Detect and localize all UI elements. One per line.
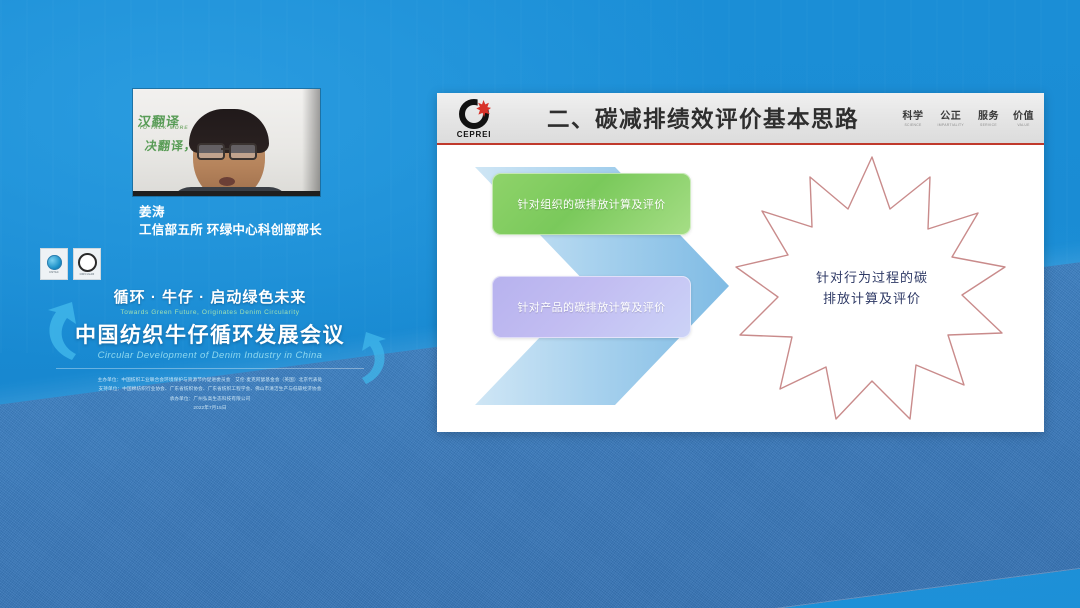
organizer-line-2: 支持单位：中国棉纺织行业协会、广东省纺织协会、广东省纺织工程学会、佛山市清洁生产… <box>30 384 390 393</box>
speaker-video-feed[interactable]: 汉翻译 TO TALK MORE 决翻译，万恳 <box>133 89 320 196</box>
slide-header: CEPREI 二、碳减排绩效评价基本思路 科学 SCIENCE 公正 IMPAR… <box>437 93 1044 145</box>
organizer-line-3: 承办单位：广州弘高生态科技有限公司 <box>30 394 390 403</box>
circular-arrow-icon <box>78 253 97 272</box>
value-science: 科学 SCIENCE <box>903 107 924 127</box>
speaker-title: 工信部五所 环绿中心科创部部长 <box>139 221 322 239</box>
org-logo-1: CNTAC <box>40 248 68 280</box>
value-impartiality: 公正 IMPARTIALITY <box>938 107 964 127</box>
organization-box[interactable]: 针对组织的碳排放计算及评价 <box>492 173 691 235</box>
speaker-name: 姜涛 <box>139 203 322 221</box>
behavior-process-burst: 针对行为过程的碳 排放计算及评价 <box>730 151 1014 426</box>
ceprei-wordmark: CEPREI <box>457 130 492 139</box>
org-logo-2: CIRCULAR <box>73 248 101 280</box>
whiteboard-text-line1-en: TO TALK MORE <box>139 125 189 131</box>
product-box[interactable]: 针对产品的碳排放计算及评价 <box>492 276 691 338</box>
slide-body: 针对组织的碳排放计算及评价 针对产品的碳排放计算及评价 针对行为过程的碳 排放计… <box>437 145 1044 432</box>
ceprei-logo: CEPREI <box>447 97 501 141</box>
slide-title: 二、碳减排绩效评价基本思路 <box>547 93 859 143</box>
brand-divider <box>56 368 364 369</box>
value-science-cn: 科学 <box>903 107 924 122</box>
ceprei-mark-icon <box>459 99 489 129</box>
globe-icon <box>47 255 62 270</box>
speaker-glasses-bridge <box>221 148 229 150</box>
conference-date: 2022年7月15日 <box>30 403 390 412</box>
value-impartiality-en: IMPARTIALITY <box>938 123 964 127</box>
org-logo-2-caption: CIRCULAR <box>80 273 95 276</box>
brand-title-cn: 中国纺织牛仔循环发展会议 <box>30 319 390 349</box>
brand-tagline-en: Towards Green Future, Originates Denim C… <box>30 309 390 316</box>
brand-tagline-cn: 循环 · 牛仔 · 启动绿色未来 <box>30 286 390 307</box>
conference-branding: 循环 · 牛仔 · 启动绿色未来 Towards Green Future, O… <box>30 286 390 413</box>
value-impartiality-cn: 公正 <box>938 107 964 122</box>
brand-title-en: Circular Development of Denim Industry i… <box>30 350 390 361</box>
organizer-line-1: 主办单位：中国纺织工业联合会环境保护与资源节约促进委员会 艾伦·麦克阿瑟基金会（… <box>30 375 390 384</box>
speaker-glasses-right <box>229 143 257 160</box>
value-value-cn: 价值 <box>1013 107 1034 122</box>
presentation-slide[interactable]: CEPREI 二、碳减排绩效评价基本思路 科学 SCIENCE 公正 IMPAR… <box>437 93 1044 432</box>
speaker-mouth <box>219 177 235 186</box>
value-service-cn: 服务 <box>978 107 999 122</box>
speaker-glasses-left <box>197 143 225 160</box>
value-value: 价值 VALUE <box>1013 107 1034 127</box>
speaker-identity: 姜涛 工信部五所 环绿中心科创部部长 <box>139 203 322 239</box>
value-service: 服务 SERVICE <box>978 107 999 127</box>
organizer-logo-group: CNTAC CIRCULAR <box>40 248 101 280</box>
slide-values-group: 科学 SCIENCE 公正 IMPARTIALITY 服务 SERVICE 价值… <box>903 107 1034 127</box>
org-logo-1-caption: CNTAC <box>49 271 59 274</box>
value-value-en: VALUE <box>1013 123 1034 127</box>
value-science-en: SCIENCE <box>903 123 924 127</box>
video-vignette <box>302 89 320 196</box>
video-bottom-bar <box>133 191 320 196</box>
value-service-en: SERVICE <box>978 123 999 127</box>
